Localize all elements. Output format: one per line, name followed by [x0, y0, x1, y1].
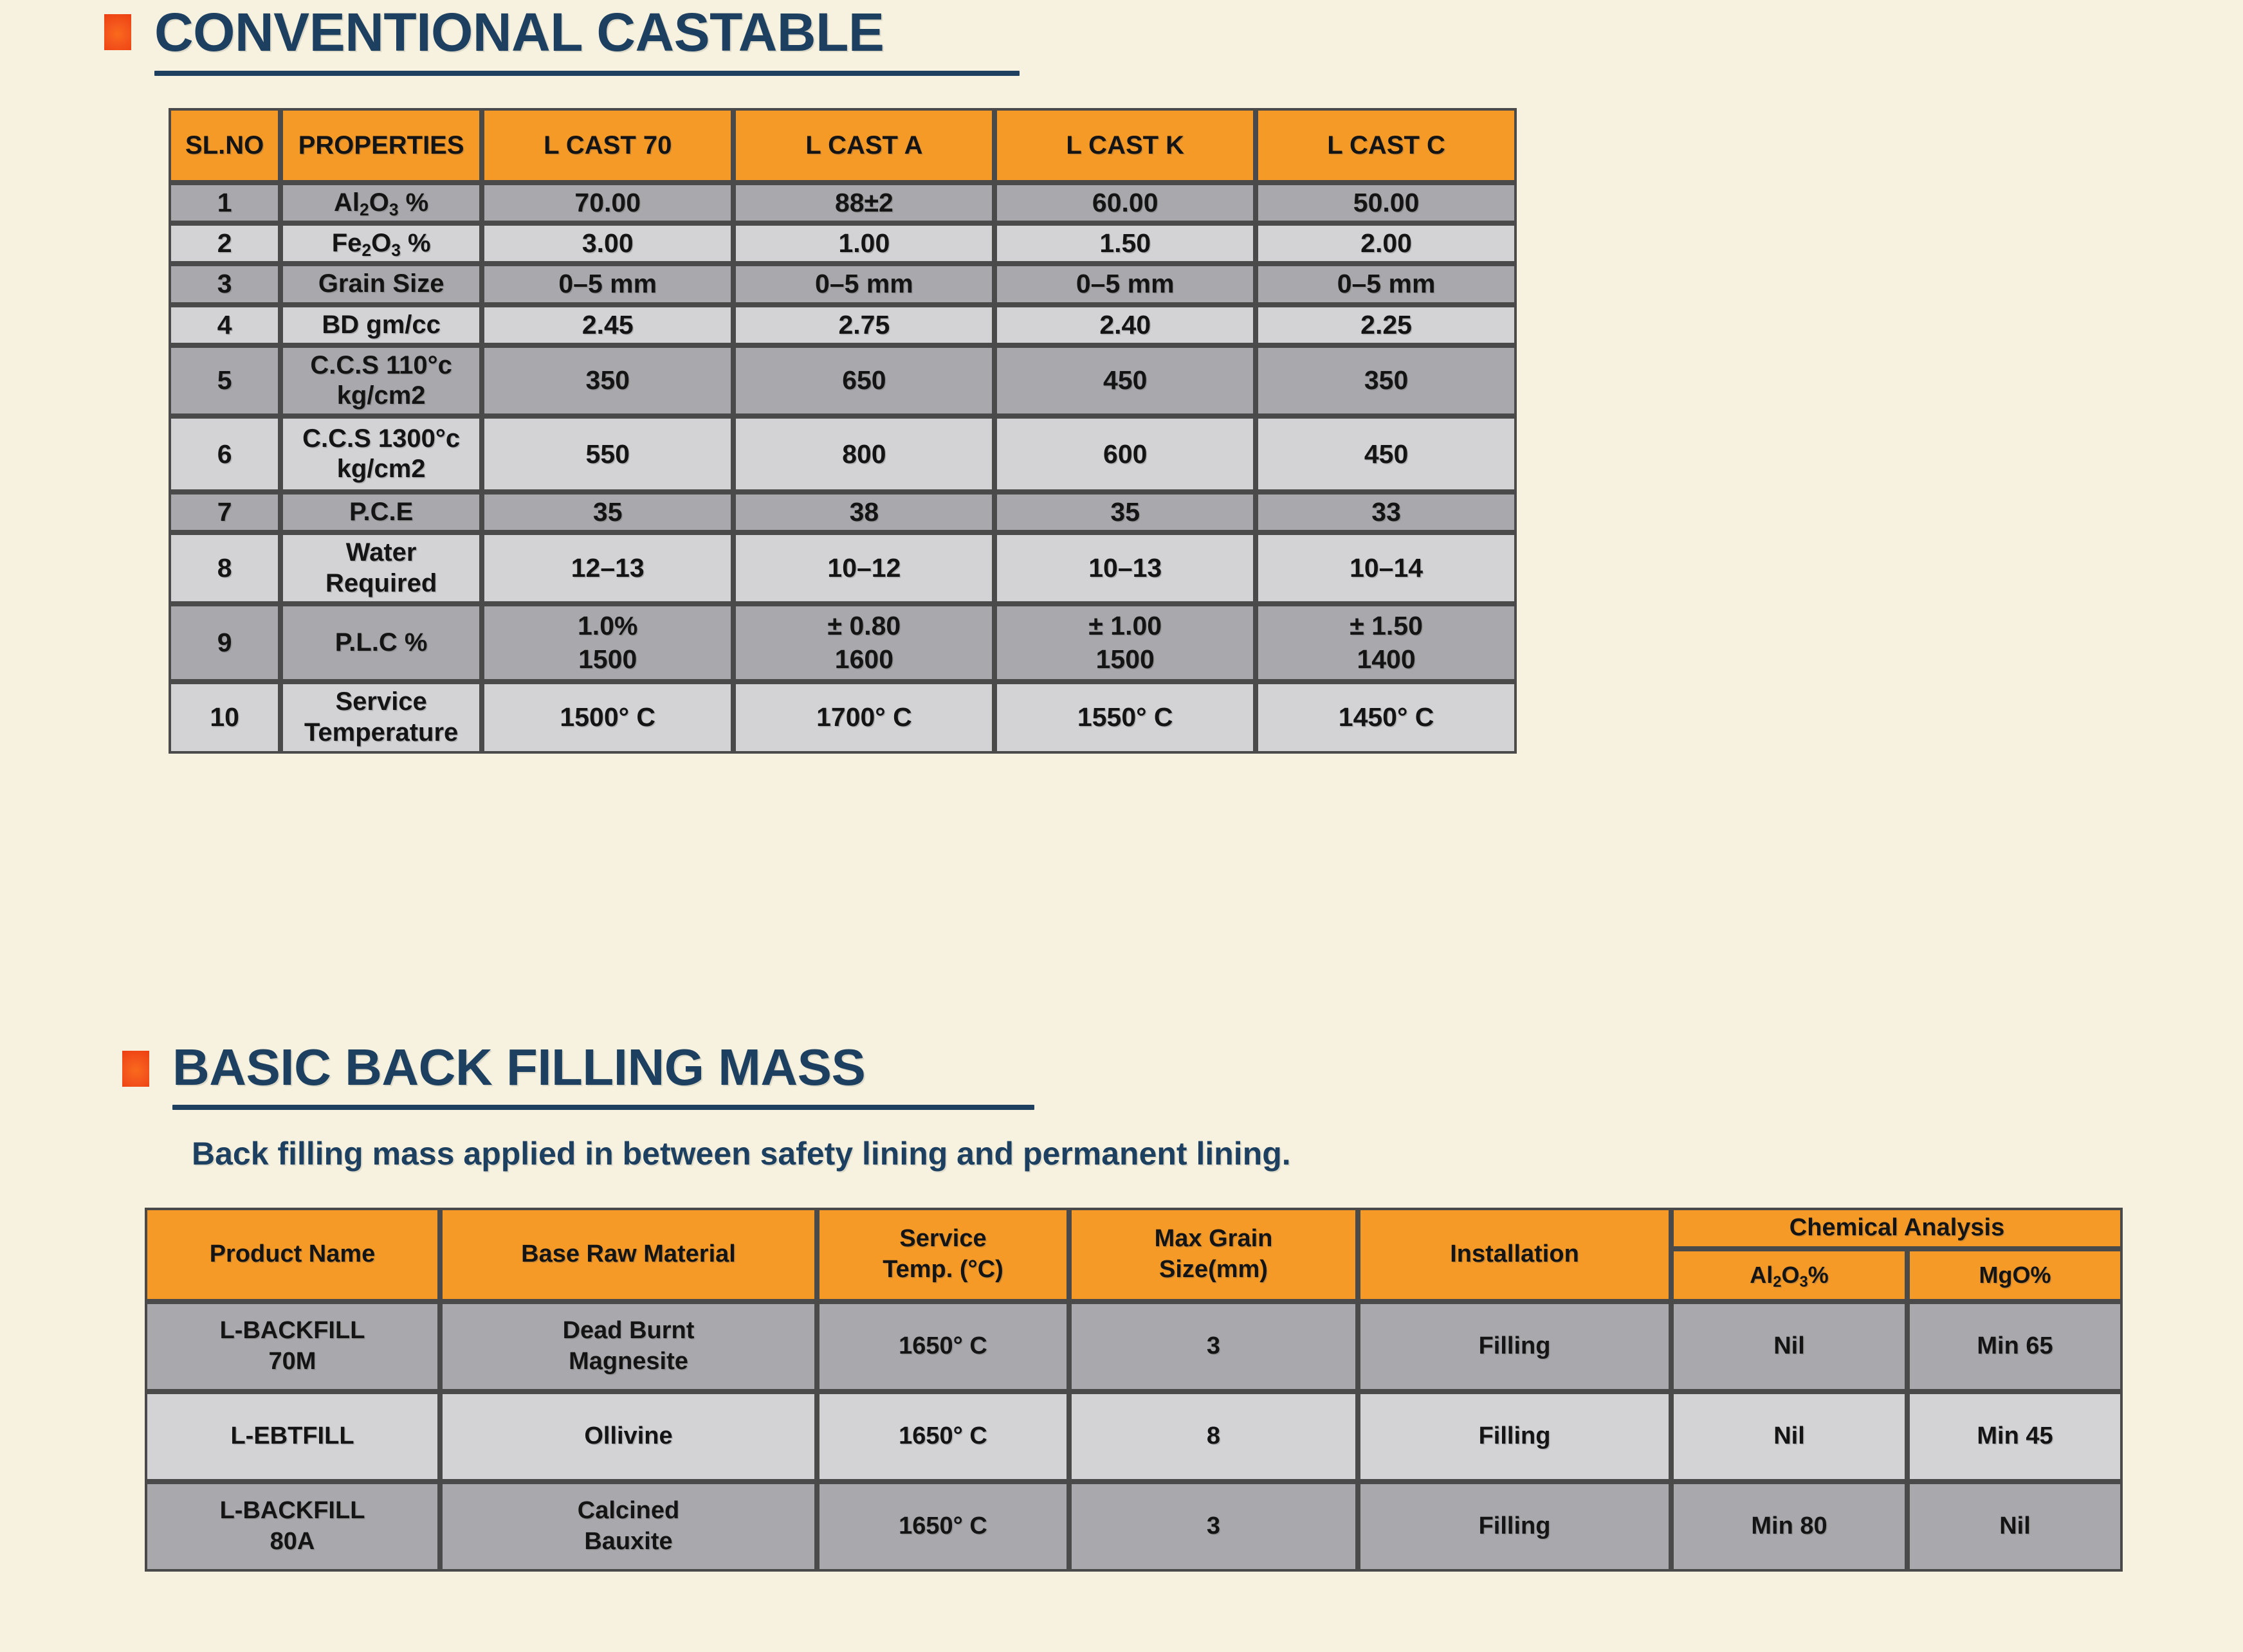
cell-value: 1.00 [733, 223, 994, 264]
cell-property: P.L.C % [280, 604, 482, 682]
cell-base-raw-material: CalcinedBauxite [440, 1482, 817, 1572]
cell-product-name: L-EBTFILL [145, 1392, 440, 1482]
cell-slno: 3 [169, 264, 280, 304]
cell-value: ± 1.501400 [1256, 604, 1517, 682]
cell-slno: 7 [169, 492, 280, 532]
table-row: 9 P.L.C % 1.0%1500 ± 0.801600 ± 1.001500… [169, 604, 1517, 682]
cell-slno: 1 [169, 183, 280, 223]
cell-value: 35 [994, 492, 1256, 532]
cell-service-temp: 1650° C [817, 1392, 1069, 1482]
cell-slno: 5 [169, 345, 280, 416]
table1-col-lcastc: L CAST C [1256, 108, 1517, 183]
cell-value: 450 [1256, 416, 1517, 492]
cell-value: 10–13 [994, 532, 1256, 603]
cell-max-grain-size: 3 [1069, 1302, 1358, 1392]
cell-slno: 2 [169, 223, 280, 264]
cell-value: 2.75 [733, 305, 994, 345]
page-title: CONVENTIONAL CASTABLE [154, 5, 1020, 59]
cell-value: 350 [1256, 345, 1517, 416]
table-row: 8 WaterRequired 12–13 10–12 10–13 10–14 [169, 532, 1517, 603]
table2-col-product-name: Product Name [145, 1208, 440, 1302]
cell-base-raw-material: Dead BurntMagnesite [440, 1302, 817, 1392]
bullet-square-icon [122, 1051, 149, 1087]
cell-value: 1.0%1500 [482, 604, 734, 682]
section-subtitle: Back filling mass applied in between saf… [192, 1135, 1291, 1172]
table2-col-al2o3: Al2O3% [1671, 1249, 1907, 1302]
cell-value: 2.25 [1256, 305, 1517, 345]
cell-value: 60.00 [994, 183, 1256, 223]
table-row: 7 P.C.E 35 38 35 33 [169, 492, 1517, 532]
cell-mgo: Min 45 [1907, 1392, 2123, 1482]
cell-value: ± 0.801600 [733, 604, 994, 682]
cell-value: 12–13 [482, 532, 734, 603]
table1-col-lcast70: L CAST 70 [482, 108, 734, 183]
table1-col-lcastk: L CAST K [994, 108, 1256, 183]
cell-value: 2.45 [482, 305, 734, 345]
cell-value: 0–5 mm [1256, 264, 1517, 304]
cell-installation: Filling [1358, 1482, 1671, 1572]
cell-slno: 8 [169, 532, 280, 603]
table-row: L-BACKFILL70M Dead BurntMagnesite 1650° … [145, 1302, 2123, 1392]
table1-header-row: SL.NO PROPERTIES L CAST 70 L CAST A L CA… [169, 108, 1517, 183]
section-heading-conventional-castable: CONVENTIONAL CASTABLE [104, 5, 1020, 76]
cell-value: 10–12 [733, 532, 994, 603]
cell-slno: 10 [169, 682, 280, 754]
cell-service-temp: 1650° C [817, 1302, 1069, 1392]
cell-value: 35 [482, 492, 734, 532]
cell-value: 33 [1256, 492, 1517, 532]
cell-max-grain-size: 3 [1069, 1482, 1358, 1572]
cell-base-raw-material: Ollivine [440, 1392, 817, 1482]
cell-al2o3: Min 80 [1671, 1482, 1907, 1572]
cell-value: 2.40 [994, 305, 1256, 345]
cell-installation: Filling [1358, 1302, 1671, 1392]
basic-back-filling-mass-table: Product Name Base Raw Material ServiceTe… [145, 1208, 2123, 1572]
cell-al2o3: Nil [1671, 1392, 1907, 1482]
table-row: 1 Al2O3 % 70.00 88±2 60.00 50.00 [169, 183, 1517, 223]
cell-value: 650 [733, 345, 994, 416]
cell-value: 38 [733, 492, 994, 532]
table2-col-chemical-analysis: Chemical Analysis [1671, 1208, 2123, 1249]
table2-header-row: Product Name Base Raw Material ServiceTe… [145, 1208, 2123, 1249]
cell-value: 350 [482, 345, 734, 416]
cell-value: 10–14 [1256, 532, 1517, 603]
cell-product-name: L-BACKFILL80A [145, 1482, 440, 1572]
cell-product-name: L-BACKFILL70M [145, 1302, 440, 1392]
cell-value: 800 [733, 416, 994, 492]
cell-value: 450 [994, 345, 1256, 416]
table2-col-service-temp: ServiceTemp. (°C) [817, 1208, 1069, 1302]
cell-value: 1450° C [1256, 682, 1517, 754]
cell-slno: 9 [169, 604, 280, 682]
cell-property: P.C.E [280, 492, 482, 532]
conventional-castable-table: SL.NO PROPERTIES L CAST 70 L CAST A L CA… [169, 108, 1517, 754]
table2-col-installation: Installation [1358, 1208, 1671, 1302]
section-title: BASIC BACK FILLING MASS [172, 1042, 1034, 1093]
cell-value: 0–5 mm [733, 264, 994, 304]
cell-al2o3: Nil [1671, 1302, 1907, 1392]
page-root: CONVENTIONAL CASTABLE SL.NO PROPERTIES L… [0, 0, 2243, 1652]
table1-col-slno: SL.NO [169, 108, 280, 183]
table2-col-base-raw-material: Base Raw Material [440, 1208, 817, 1302]
cell-property: WaterRequired [280, 532, 482, 603]
cell-value: ± 1.001500 [994, 604, 1256, 682]
table-row: 10 ServiceTemperature 1500° C 1700° C 15… [169, 682, 1517, 754]
cell-value: 3.00 [482, 223, 734, 264]
table-row: 5 C.C.S 110°ckg/cm2 350 650 450 350 [169, 345, 1517, 416]
cell-property: Fe2O3 % [280, 223, 482, 264]
bullet-square-icon [104, 14, 131, 50]
cell-value: 0–5 mm [994, 264, 1256, 304]
cell-property: Grain Size [280, 264, 482, 304]
table-row: 3 Grain Size 0–5 mm 0–5 mm 0–5 mm 0–5 mm [169, 264, 1517, 304]
cell-mgo: Nil [1907, 1482, 2123, 1572]
cell-value: 1.50 [994, 223, 1256, 264]
cell-value: 50.00 [1256, 183, 1517, 223]
cell-slno: 4 [169, 305, 280, 345]
table2-col-max-grain-size: Max GrainSize(mm) [1069, 1208, 1358, 1302]
cell-mgo: Min 65 [1907, 1302, 2123, 1392]
cell-value: 70.00 [482, 183, 734, 223]
cell-property: C.C.S 1300°ckg/cm2 [280, 416, 482, 492]
cell-property: C.C.S 110°ckg/cm2 [280, 345, 482, 416]
cell-value: 600 [994, 416, 1256, 492]
table-row: L-EBTFILL Ollivine 1650° C 8 Filling Nil… [145, 1392, 2123, 1482]
table-row: 6 C.C.S 1300°ckg/cm2 550 800 600 450 [169, 416, 1517, 492]
cell-value: 88±2 [733, 183, 994, 223]
cell-property: Al2O3 % [280, 183, 482, 223]
cell-value: 1550° C [994, 682, 1256, 754]
table-row: 4 BD gm/cc 2.45 2.75 2.40 2.25 [169, 305, 1517, 345]
cell-installation: Filling [1358, 1392, 1671, 1482]
table-row: 2 Fe2O3 % 3.00 1.00 1.50 2.00 [169, 223, 1517, 264]
table1-col-properties: PROPERTIES [280, 108, 482, 183]
table-row: L-BACKFILL80A CalcinedBauxite 1650° C 3 … [145, 1482, 2123, 1572]
cell-property: ServiceTemperature [280, 682, 482, 754]
cell-max-grain-size: 8 [1069, 1392, 1358, 1482]
heading-underline [154, 71, 1020, 76]
heading-underline [172, 1105, 1034, 1110]
cell-slno: 6 [169, 416, 280, 492]
section-heading-basic-back-filling-mass: BASIC BACK FILLING MASS [122, 1042, 1034, 1110]
cell-value: 1500° C [482, 682, 734, 754]
cell-property: BD gm/cc [280, 305, 482, 345]
cell-service-temp: 1650° C [817, 1482, 1069, 1572]
cell-value: 550 [482, 416, 734, 492]
cell-value: 1700° C [733, 682, 994, 754]
cell-value: 0–5 mm [482, 264, 734, 304]
table1-col-lcasta: L CAST A [733, 108, 994, 183]
cell-value: 2.00 [1256, 223, 1517, 264]
table2-col-mgo: MgO% [1907, 1249, 2123, 1302]
